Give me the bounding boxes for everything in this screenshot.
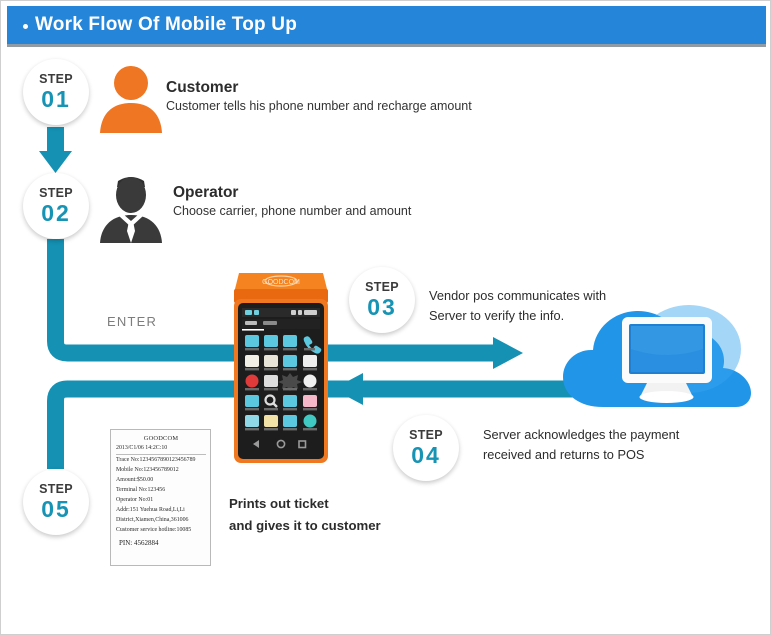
operator-text-block: Operator Choose carrier, phone number an…: [173, 184, 411, 220]
enter-label: ENTER: [107, 314, 157, 329]
arrow-step01-to-step02: [39, 127, 72, 173]
step3-description: Vendor pos communicates with Server to v…: [429, 286, 606, 326]
step-circle-04[interactable]: STEP 04: [393, 415, 459, 481]
step3-desc-line1: Vendor pos communicates with: [429, 286, 606, 306]
operator-avatar-icon: [96, 173, 166, 245]
header-underline: [7, 44, 766, 47]
receipt-line: Terminal No:123456: [116, 486, 206, 496]
printed-receipt: GOODCOM 2013/C1/06 14:2C:10 Trace No:123…: [110, 429, 211, 566]
receipt-line: District,Xiamen,China,361006: [116, 516, 206, 526]
customer-text-block: Customer Customer tells his phone number…: [166, 79, 472, 115]
step-number: 03: [367, 295, 397, 319]
step3-desc-line2: Server to verify the info.: [429, 306, 606, 326]
step-word: STEP: [365, 281, 399, 294]
svg-text:GOODCOM: GOODCOM: [262, 279, 300, 286]
step-number: 04: [411, 443, 441, 467]
step5-description: Prints out ticket and gives it to custom…: [229, 493, 381, 538]
step4-desc-line1: Server acknowledges the payment: [483, 425, 679, 445]
receipt-line: Operator No:01: [116, 496, 206, 506]
receipt-merchant: GOODCOM: [116, 434, 206, 444]
customer-title: Customer: [166, 79, 472, 96]
receipt-line: Amount:$50.00: [116, 476, 206, 486]
receipt-line: Addr:151 Yuehua Road,Li,Li: [116, 506, 206, 516]
step-circle-02[interactable]: STEP 02: [23, 173, 89, 239]
receipt-datetime: 2013/C1/06 14:2C:10: [116, 444, 206, 455]
step-number: 02: [41, 201, 71, 225]
step4-desc-line2: received and returns to POS: [483, 445, 679, 465]
step-circle-01[interactable]: STEP 01: [23, 59, 89, 125]
receipt-pin: PIN: 4562884: [116, 539, 206, 547]
step4-description: Server acknowledges the payment received…: [483, 425, 679, 465]
step-circle-05[interactable]: STEP 05: [23, 469, 89, 535]
header-bar: Work Flow Of Mobile Top Up: [7, 6, 766, 44]
step-word: STEP: [39, 483, 73, 496]
operator-description: Choose carrier, phone number and amount: [173, 204, 411, 220]
step-word: STEP: [39, 187, 73, 200]
workflow-diagram: Work Flow Of Mobile Top Up STEP 01 STEP …: [0, 0, 771, 635]
page-title: Work Flow Of Mobile Top Up: [35, 14, 297, 36]
step5-desc-line2: and gives it to customer: [229, 515, 381, 537]
bullet-dot-icon: [23, 24, 28, 29]
operator-title: Operator: [173, 184, 411, 201]
pos-terminal-device: GOODCOM: [229, 259, 333, 467]
step-number: 01: [41, 87, 71, 111]
receipt-line: Trace No:1234567890123456789: [116, 456, 206, 466]
customer-avatar-icon: [96, 63, 166, 135]
receipt-line: Mobile No:123456789012: [116, 466, 206, 476]
step-circle-03[interactable]: STEP 03: [349, 267, 415, 333]
step-number: 05: [41, 497, 71, 521]
step-word: STEP: [39, 73, 73, 86]
customer-description: Customer tells his phone number and rech…: [166, 99, 472, 115]
step5-desc-line1: Prints out ticket: [229, 493, 381, 515]
receipt-line: Customer service hotline:10085: [116, 526, 206, 536]
step-word: STEP: [409, 429, 443, 442]
